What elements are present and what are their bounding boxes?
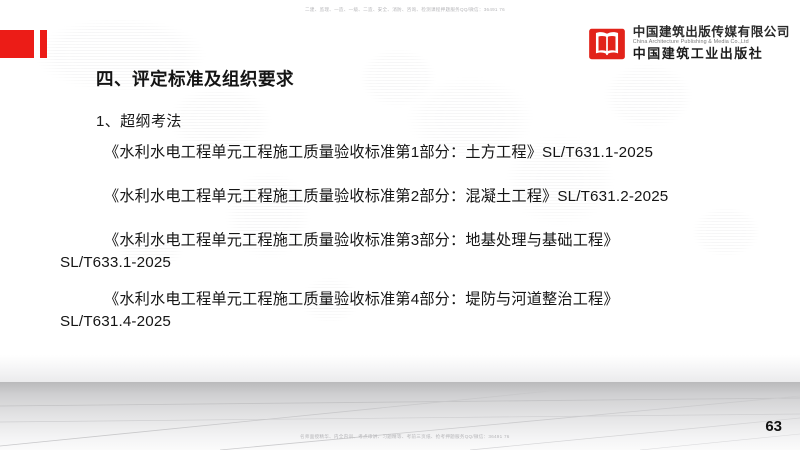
- standard-title-line: 《水利水电工程单元工程施工质量验收标准第2部分：混凝土工程》SL/T631.2-…: [60, 186, 750, 208]
- decoration-red-block: [0, 30, 34, 58]
- list-item: 《水利水电工程单元工程施工质量验收标准第2部分：混凝土工程》SL/T631.2-…: [60, 186, 750, 208]
- watermark-bottom: 名师面授精华、内全内训、考点串讲、习题精等、考前三页纸、抢考押题服务QQ/微信：…: [300, 434, 510, 440]
- presentation-slide: 中国建筑出版传媒有限公司 China Architecture Publishi…: [0, 0, 800, 450]
- floor-upper-shade: [0, 355, 800, 383]
- standard-title-line: 《水利水电工程单元工程施工质量验收标准第1部分：土方工程》SL/T631.1-2…: [60, 142, 750, 164]
- standard-code-line: SL/T633.1-2025: [60, 252, 750, 274]
- publisher-logo-text: 中国建筑出版传媒有限公司 China Architecture Publishi…: [633, 26, 790, 62]
- page-title: 四、评定标准及组织要求: [96, 66, 294, 91]
- publisher-logo: 中国建筑出版传媒有限公司 China Architecture Publishi…: [588, 26, 790, 62]
- standard-code-line: SL/T631.4-2025: [60, 311, 750, 333]
- section-subtitle: 1、超纲考法: [96, 110, 182, 131]
- watermark-top: 二建、监理、一造、一级、二造、安全、消防、咨询、检测课程押题服务QQ/微信：36…: [305, 7, 505, 13]
- publisher-company-cn: 中国建筑出版传媒有限公司: [633, 26, 790, 39]
- decoration-red-bar: [40, 30, 47, 58]
- open-book-icon: [588, 27, 626, 61]
- publisher-company-en: China Architecture Publishing & Media Co…: [633, 40, 790, 46]
- publisher-imprint-cn: 中国建筑工业出版社: [633, 48, 790, 62]
- page-number: 63: [765, 418, 782, 435]
- list-item: 《水利水电工程单元工程施工质量验收标准第4部分：堤防与河道整治工程》 SL/T6…: [60, 289, 750, 332]
- list-item: 《水利水电工程单元工程施工质量验收标准第3部分：地基处理与基础工程》 SL/T6…: [60, 230, 750, 273]
- standard-title-line: 《水利水电工程单元工程施工质量验收标准第3部分：地基处理与基础工程》: [60, 230, 750, 252]
- standard-title-line: 《水利水电工程单元工程施工质量验收标准第4部分：堤防与河道整治工程》: [60, 289, 750, 311]
- list-item: 《水利水电工程单元工程施工质量验收标准第1部分：土方工程》SL/T631.1-2…: [60, 142, 750, 164]
